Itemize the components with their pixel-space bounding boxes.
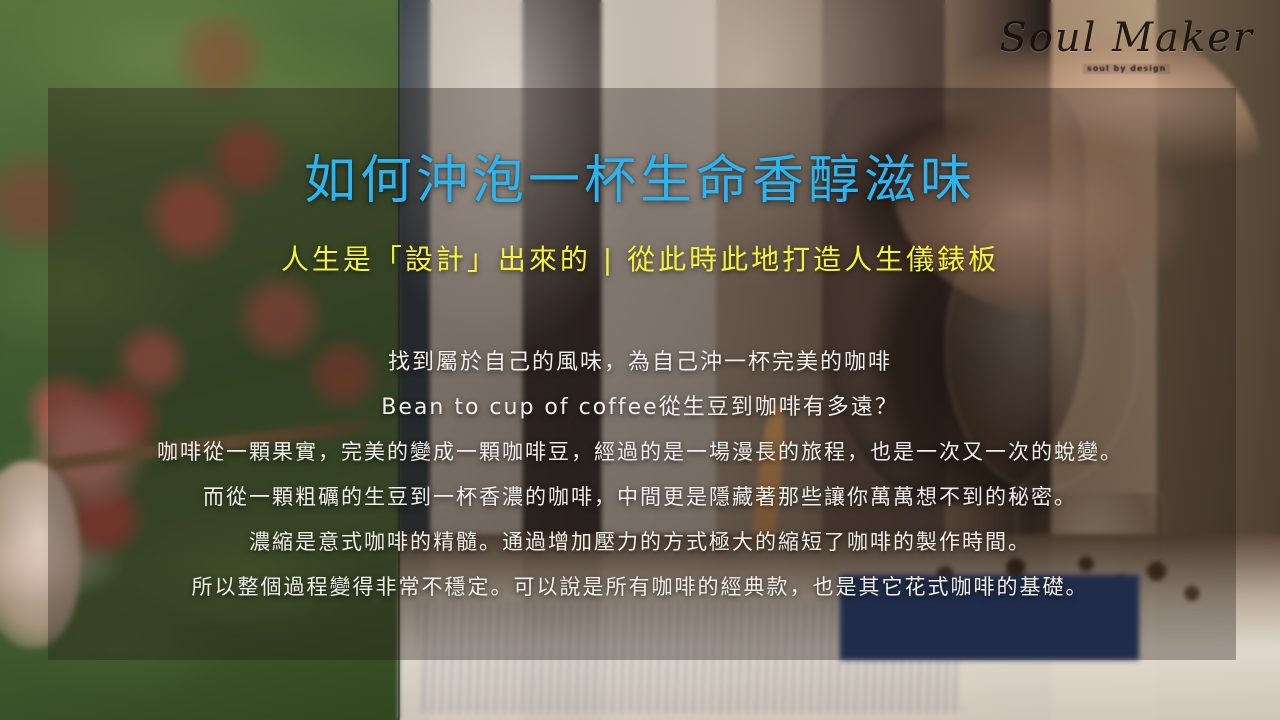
logo-wordmark: Soul Maker [999, 18, 1254, 58]
body-line: 而從一顆粗礪的生豆到一杯香濃的咖啡，中間更是隱藏著那些讓你萬萬想不到的秘密。 [0, 475, 1280, 520]
body-line: Bean to cup of coffee從生豆到咖啡有多遠？ [0, 385, 1280, 430]
slide-canvas: Soul Maker soul by design 如何沖泡一杯生命香醇滋味 人… [0, 0, 1280, 720]
page-title: 如何沖泡一杯生命香醇滋味 [0, 155, 1280, 207]
slide-content: 如何沖泡一杯生命香醇滋味 人生是「設計」出來的 | 從此時此地打造人生儀錶板 找… [0, 0, 1280, 720]
body-line: 咖啡從一顆果實，完美的變成一顆咖啡豆，經過的是一場漫長的旅程，也是一次又一次的蛻… [0, 430, 1280, 475]
body-line: 濃縮是意式咖啡的精髓。通過增加壓力的方式極大的縮短了咖啡的製作時間。 [0, 520, 1280, 565]
body-line: 找到屬於自己的風味，為自己沖一杯完美的咖啡 [0, 340, 1280, 385]
soul-maker-logo[interactable]: Soul Maker soul by design [999, 18, 1254, 74]
body-copy: 找到屬於自己的風味，為自己沖一杯完美的咖啡 Bean to cup of cof… [0, 340, 1280, 610]
page-subtitle: 人生是「設計」出來的 | 從此時此地打造人生儀錶板 [0, 246, 1280, 274]
body-line: 所以整個過程變得非常不穩定。可以說是所有咖啡的經典款，也是其它花式咖啡的基礎。 [0, 565, 1280, 610]
logo-tagline: soul by design [1083, 64, 1170, 74]
